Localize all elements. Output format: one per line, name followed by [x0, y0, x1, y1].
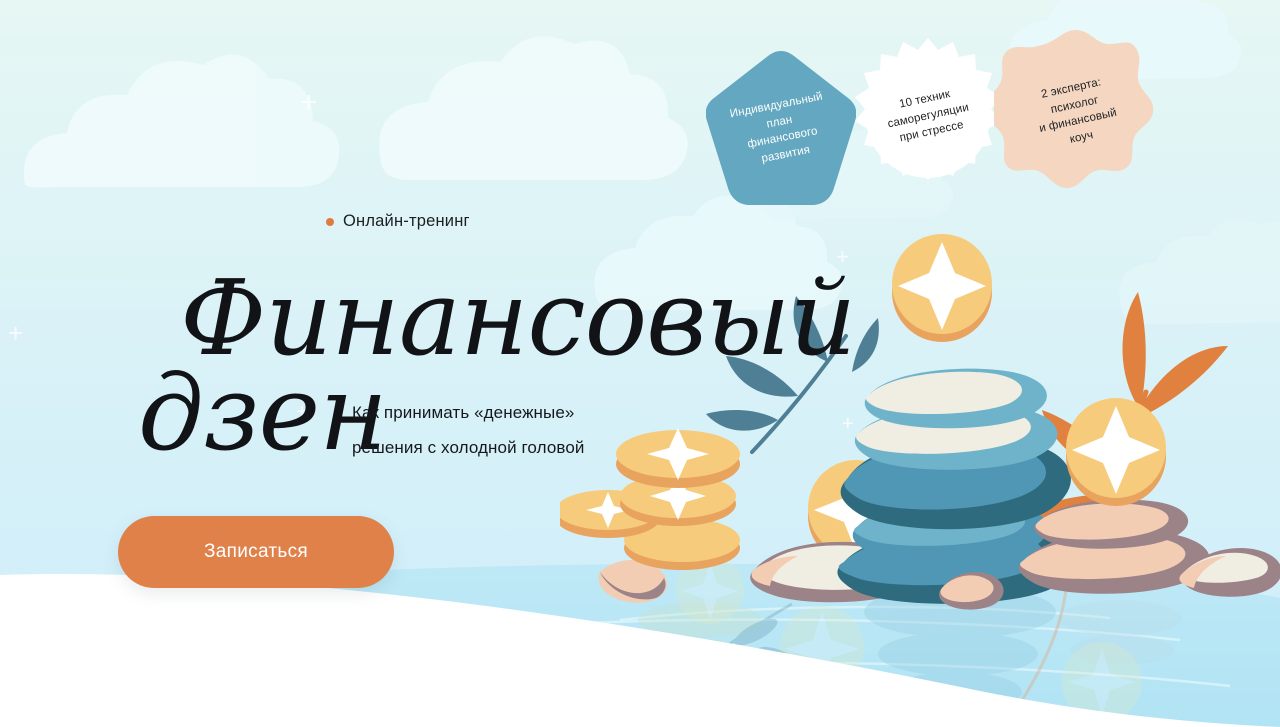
- subtitle-line-1: Как принимать «денежные»: [352, 396, 584, 431]
- plus-sparkle-icon: +: [8, 320, 23, 346]
- eyebrow-label: Онлайн-тренинг: [343, 212, 470, 231]
- eyebrow-tag: Онлайн-тренинг: [326, 212, 470, 231]
- hero-banner: + + + + + + Индивидуальный план финансов…: [0, 0, 1280, 727]
- hero-subtitle: Как принимать «денежные» решения с холод…: [352, 396, 584, 466]
- signup-button[interactable]: Записаться: [118, 516, 394, 588]
- bullet-dot-icon: [326, 218, 334, 226]
- subtitle-line-2: решения с холодной головой: [352, 431, 584, 466]
- plus-sparkle-icon: +: [300, 88, 318, 118]
